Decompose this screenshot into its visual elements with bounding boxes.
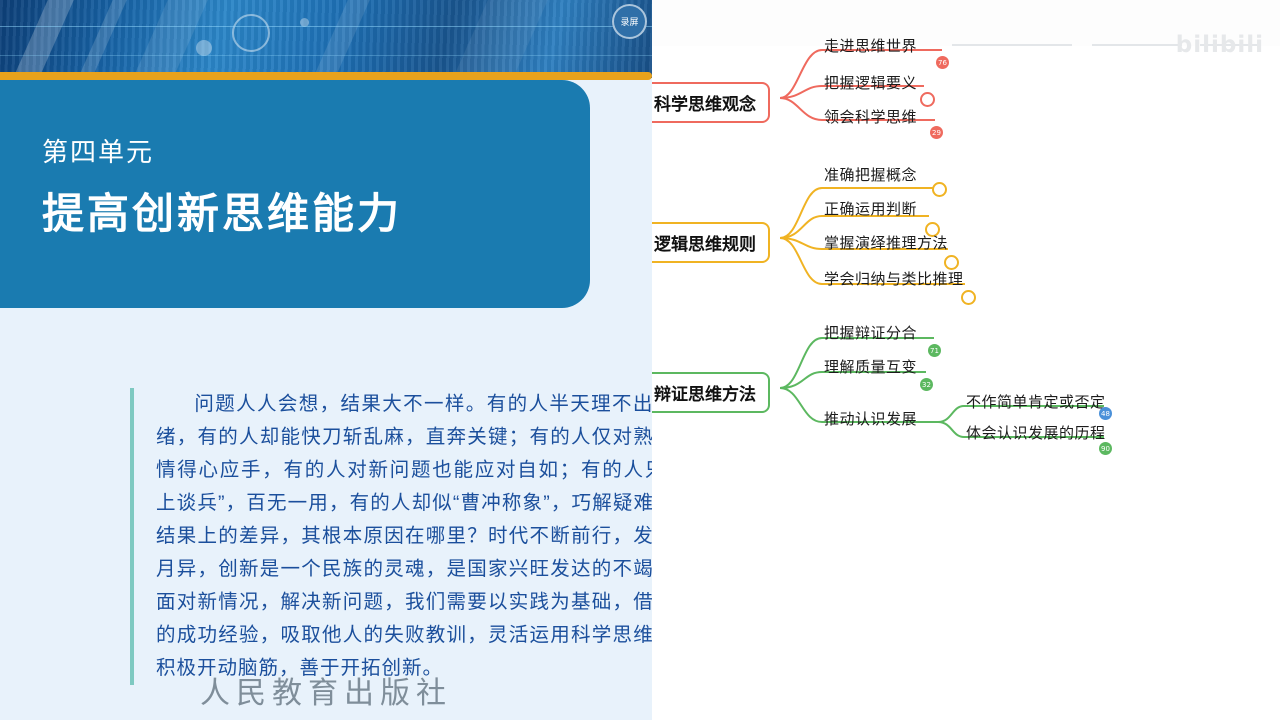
branch-node-2-label: 逻辑思维规则 xyxy=(654,235,756,254)
child-node-3-3[interactable]: 推动认识发展 xyxy=(824,408,917,429)
child-node-1-3-badge: 29 xyxy=(930,126,943,139)
leaf-node-1[interactable]: 不作简单肯定或否定 xyxy=(966,391,1106,412)
slide-body-text: 问题人人会想，结果大不一样。有的人半天理不出一个头绪，有的人却能快刀斩乱麻，直奔… xyxy=(156,388,652,685)
gold-accent-bar xyxy=(0,72,652,80)
photo-line xyxy=(0,55,652,56)
unit-label: 第四单元 xyxy=(42,132,154,169)
child-node-1-1[interactable]: 走进思维世界 xyxy=(824,35,917,56)
slide-header-photo xyxy=(0,0,652,78)
child-node-3-2-badge: 32 xyxy=(920,378,933,391)
screen-record-badge[interactable]: 录屏 xyxy=(612,4,647,39)
child-node-3-1[interactable]: 把握辩证分合 xyxy=(824,322,917,343)
leaf-node-2[interactable]: 体会认识发展的历程 xyxy=(966,422,1106,443)
branch-node-3[interactable]: 辩证思维方法 xyxy=(652,372,770,413)
child-node-2-1[interactable]: 准确把握概念 xyxy=(824,164,917,185)
child-node-2-3[interactable]: 掌握演绎推理方法 xyxy=(824,232,948,253)
child-node-1-2-marker xyxy=(920,92,935,107)
slide-panel: 第四单元 提高创新思维能力 问题人人会想，结果大不一样。有的人半天理不出一个头绪… xyxy=(0,0,652,720)
child-node-3-1-badge: 71 xyxy=(928,344,941,357)
child-node-2-1-marker xyxy=(932,182,947,197)
child-node-2-4[interactable]: 学会归纳与类比推理 xyxy=(824,268,964,289)
child-node-2-4-marker xyxy=(961,290,976,305)
child-node-1-2[interactable]: 把握逻辑要义 xyxy=(824,72,917,93)
photo-ring xyxy=(232,14,270,52)
mindmap-panel[interactable]: bilibili xyxy=(652,0,1280,720)
screen-root: 第四单元 提高创新思维能力 问题人人会想，结果大不一样。有的人半天理不出一个头绪… xyxy=(0,0,1280,720)
photo-dot xyxy=(196,40,212,56)
leaf-node-2-badge: 90 xyxy=(1099,442,1112,455)
photo-line xyxy=(0,26,652,27)
child-node-3-2[interactable]: 理解质量互变 xyxy=(824,356,917,377)
leaf-node-1-badge: 48 xyxy=(1099,407,1112,420)
slide-body-inner: 问题人人会想，结果大不一样。有的人半天理不出一个头绪，有的人却能快刀斩乱麻，直奔… xyxy=(156,393,652,679)
branch-node-1-label: 科学思维观念 xyxy=(654,95,756,114)
publisher-mark: 人民教育出版社 xyxy=(0,668,652,712)
branch-node-3-label: 辩证思维方法 xyxy=(654,385,756,404)
branch-node-1[interactable]: 科学思维观念 xyxy=(652,82,770,123)
screen-record-badge-label: 录屏 xyxy=(620,17,638,27)
branch-node-2[interactable]: 逻辑思维规则 xyxy=(652,222,770,263)
slide-body: 问题人人会想，结果大不一样。有的人半天理不出一个头绪，有的人却能快刀斩乱麻，直奔… xyxy=(130,388,652,685)
child-node-1-1-badge: 76 xyxy=(936,56,949,69)
child-node-1-3[interactable]: 领会科学思维 xyxy=(824,106,917,127)
child-node-2-2[interactable]: 正确运用判断 xyxy=(824,198,917,219)
unit-title: 提高创新思维能力 xyxy=(42,180,402,241)
